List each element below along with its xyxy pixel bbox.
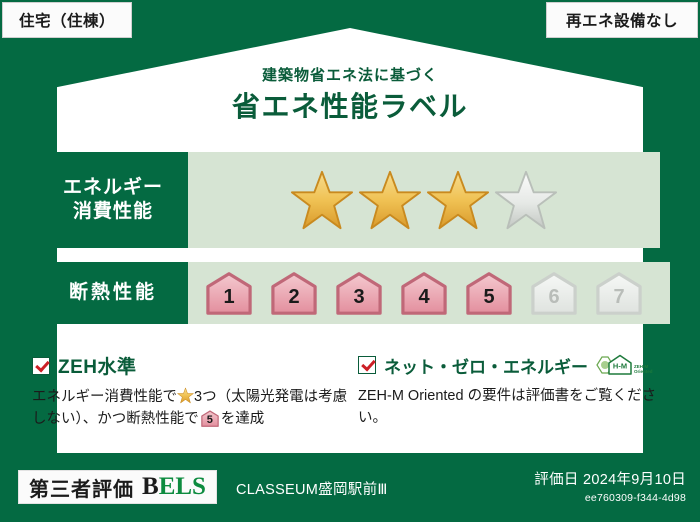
zeh-m-oriented-logo-icon: H-MZEH-MOriented — [596, 352, 654, 378]
bels-badge: 第三者評価 B ELS — [18, 470, 217, 504]
row-energy-label-line1: エネルギー — [63, 176, 163, 200]
inline-house-badge-value: 5 — [199, 414, 221, 427]
row-energy-label-line2: 消費性能 — [73, 200, 153, 224]
net-zero-energy-block: ネット・ゼロ・エネルギー H-MZEH-MOriented ZEH-M Orie… — [358, 352, 660, 430]
svg-text:Oriented: Oriented — [634, 369, 653, 374]
checkbox-checked-icon — [32, 357, 50, 375]
bels-logo-b: B — [142, 473, 159, 501]
evaluation-id: ee760309-f344-4d98 — [534, 492, 686, 504]
insulation-level-value: 7 — [588, 280, 650, 315]
project-name: CLASSEUM盛岡駅前Ⅲ — [236, 478, 388, 499]
zeh-standard-block: ZEH水準 エネルギー消費性能で3つ（太陽光発電は考慮しない）、かつ断熱性能で5… — [32, 352, 350, 431]
tag-building-type: 住宅（住棟） — [2, 2, 132, 38]
row-energy-label: エネルギー 消費性能 — [38, 152, 188, 248]
insulation-level-value: 3 — [328, 280, 390, 315]
label-title: 省エネ性能ラベル — [0, 85, 700, 125]
star-3-filled-icon — [426, 169, 490, 231]
insulation-level-2-active: 2 — [263, 271, 325, 315]
zeh-title: ZEH水準 — [58, 352, 137, 379]
evaluation-date: 評価日 2024年9月10日 — [534, 468, 686, 489]
insulation-level-6-inactive: 6 — [523, 271, 585, 315]
insulation-level-group: 1234567 — [188, 262, 670, 324]
insulation-level-value: 5 — [458, 280, 520, 315]
svg-text:H-M: H-M — [613, 362, 627, 371]
inline-house-badge-icon: 5 — [199, 410, 221, 427]
net-zero-title: ネット・ゼロ・エネルギー — [384, 353, 588, 378]
star-2-filled-icon — [358, 169, 422, 231]
net-zero-heading: ネット・ゼロ・エネルギー H-MZEH-MOriented — [358, 352, 660, 378]
zeh-description-post: を達成 — [221, 411, 265, 427]
insulation-level-1-active: 1 — [198, 271, 260, 315]
svg-text:ZEH-M: ZEH-M — [634, 364, 648, 369]
insulation-level-value: 6 — [523, 280, 585, 315]
row-energy-performance: エネルギー 消費性能 — [38, 152, 660, 248]
star-rating-group — [188, 152, 660, 248]
insulation-level-value: 2 — [263, 280, 325, 315]
evaluation-meta: 評価日 2024年9月10日 ee760309-f344-4d98 — [534, 468, 686, 504]
checkbox-checked-icon — [358, 356, 376, 374]
insulation-level-7-inactive: 7 — [588, 271, 650, 315]
insulation-level-value: 4 — [393, 280, 455, 315]
row-insulation-performance: 断熱性能 1234567 — [38, 262, 670, 324]
zeh-description-pre: エネルギー消費性能で — [32, 389, 177, 405]
net-zero-description: ZEH-M Oriented の要件は評価書をご覧ください。 — [358, 385, 660, 430]
footer: 第三者評価 B ELS CLASSEUM盛岡駅前Ⅲ 評価日 2024年9月10日… — [0, 462, 700, 522]
star-1-filled-icon — [290, 169, 354, 231]
insulation-level-5-active: 5 — [458, 271, 520, 315]
evaluation-date-label: 評価日 — [534, 472, 578, 488]
bels-third-party-label: 第三者評価 — [29, 473, 134, 502]
inline-star-icon — [177, 387, 194, 404]
row-insulation-label: 断熱性能 — [38, 262, 188, 324]
evaluation-date-value: 2024年9月10日 — [583, 472, 686, 488]
zeh-heading: ZEH水準 — [32, 352, 350, 379]
tag-renewable-equipment: 再エネ設備なし — [546, 2, 698, 38]
insulation-level-3-active: 3 — [328, 271, 390, 315]
insulation-level-value: 1 — [198, 280, 260, 315]
energy-performance-label: 住宅（住棟） 再エネ設備なし 建築物省エネ法に基づく 省エネ性能ラベル エネルギ… — [0, 0, 700, 522]
star-4-empty-icon — [494, 169, 558, 231]
bels-logo-els: ELS — [159, 473, 206, 501]
zeh-description: エネルギー消費性能で3つ（太陽光発電は考慮しない）、かつ断熱性能で5を達成 — [32, 386, 350, 431]
label-subtitle: 建築物省エネ法に基づく — [0, 64, 700, 85]
insulation-level-4-active: 4 — [393, 271, 455, 315]
